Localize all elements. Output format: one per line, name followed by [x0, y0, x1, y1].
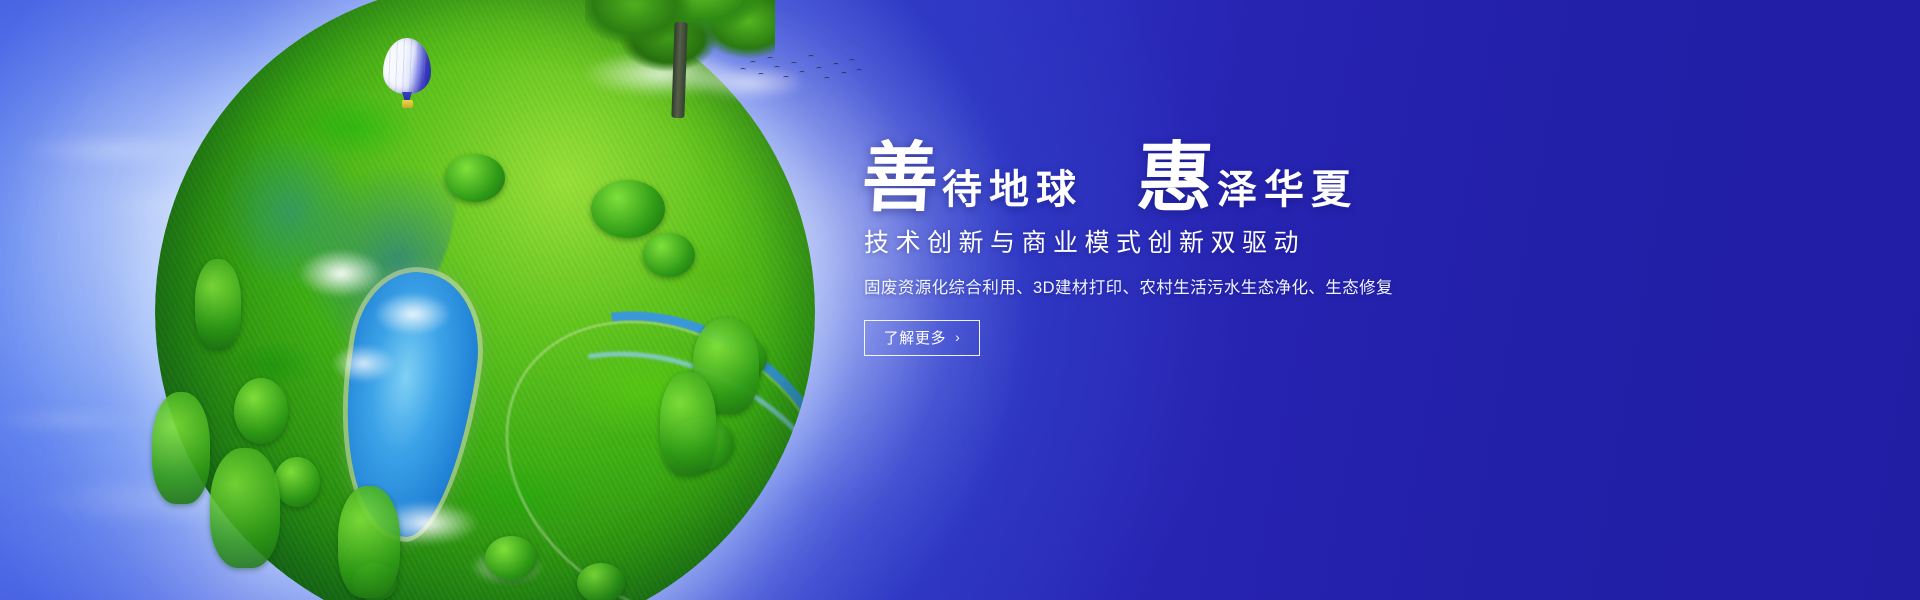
edge-tree-icon: [660, 372, 716, 476]
edge-tree-icon: [210, 448, 280, 568]
headline-char-2: 惠: [1135, 142, 1215, 216]
balloon-basket: [402, 100, 413, 108]
headline-text-2: 泽华夏: [1217, 170, 1358, 210]
hero-banner: 善 待地球 惠 泽华夏 技术创新与商业模式创新双驱动 固废资源化综合利用、3D建…: [0, 0, 1920, 600]
learn-more-button[interactable]: 了解更多 ›: [864, 320, 980, 356]
planet-artwork: [140, 0, 860, 600]
hot-air-balloon-icon: [383, 38, 431, 110]
balloon-neck: [402, 92, 412, 100]
edge-tree-icon: [152, 392, 210, 504]
balloon-envelope: [383, 38, 431, 94]
hero-subtitle: 技术创新与商业模式创新双驱动: [864, 230, 1742, 258]
chevron-right-icon: ›: [955, 330, 960, 344]
edge-tree-icon: [338, 486, 400, 598]
page-title: 善 待地球 惠 泽华夏: [862, 128, 1742, 216]
headline-text-1: 待地球: [942, 170, 1083, 210]
birds-flock-icon: [736, 52, 866, 92]
tree-trunk: [671, 22, 687, 118]
hero-copy: 善 待地球 惠 泽华夏 技术创新与商业模式创新双驱动 固废资源化综合利用、3D建…: [862, 128, 1742, 356]
learn-more-label: 了解更多: [884, 327, 946, 348]
headline-char-1: 善: [860, 142, 940, 216]
hero-description: 固废资源化综合利用、3D建材打印、农村生活污水生态净化、生态修复: [864, 278, 1742, 299]
